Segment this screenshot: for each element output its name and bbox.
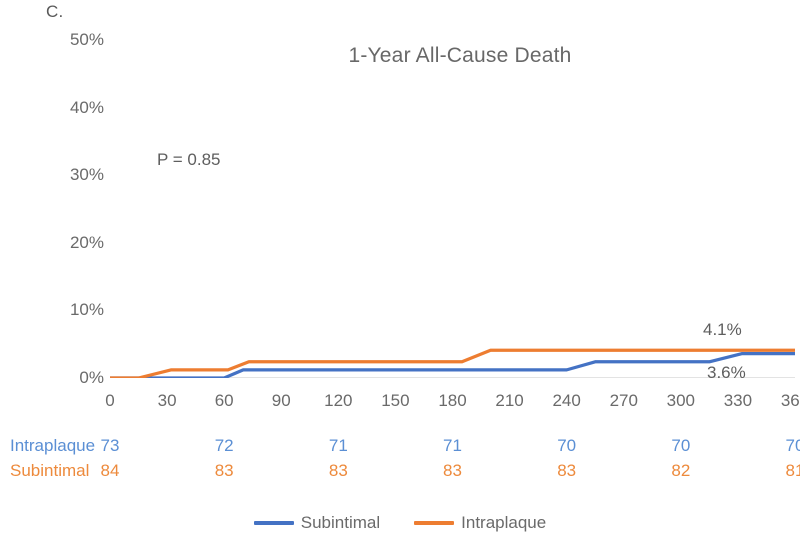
risk-table-cell: 82 xyxy=(658,461,704,481)
risk-table-cell: 84 xyxy=(87,461,133,481)
x-axis-tick-label: 240 xyxy=(544,391,590,411)
km-curves-svg xyxy=(110,40,795,378)
legend-item[interactable]: Subintimal xyxy=(254,513,380,533)
risk-table-cell: 72 xyxy=(201,436,247,456)
y-axis-tick-label: 40% xyxy=(44,99,104,116)
risk-table-row: Intraplaque73727171707070 xyxy=(0,436,800,458)
panel-label: C. xyxy=(46,2,63,22)
risk-table-cell: 70 xyxy=(544,436,590,456)
legend-line-swatch-icon xyxy=(414,521,454,525)
x-axis-tick-label: 210 xyxy=(487,391,533,411)
y-axis-tick-label: 0% xyxy=(44,369,104,386)
x-axis-tick-label: 360 xyxy=(772,391,800,411)
risk-table-cell: 83 xyxy=(315,461,361,481)
y-axis-tick-label: 20% xyxy=(44,234,104,251)
risk-table-row: Subintimal84838383838281 xyxy=(0,461,800,483)
km-curve-intraplaque xyxy=(110,350,795,378)
risk-table-cell: 73 xyxy=(87,436,133,456)
risk-table-cell: 71 xyxy=(430,436,476,456)
plot-area xyxy=(110,40,795,378)
x-axis-tick-label: 300 xyxy=(658,391,704,411)
y-axis-tick-label: 10% xyxy=(44,301,104,318)
risk-table-cell: 71 xyxy=(315,436,361,456)
legend-line-swatch-icon xyxy=(254,521,294,525)
chart-legend: SubintimalIntraplaque xyxy=(0,513,800,533)
endpoint-label-subintimal: 3.6% xyxy=(707,363,746,383)
x-axis-tick-label: 150 xyxy=(372,391,418,411)
x-axis-tick-label: 60 xyxy=(201,391,247,411)
legend-item-label: Intraplaque xyxy=(461,513,546,533)
y-axis-tick-label: 50% xyxy=(44,31,104,48)
x-axis-tick-label: 0 xyxy=(87,391,133,411)
x-axis-tick-label: 270 xyxy=(601,391,647,411)
risk-table-cell: 83 xyxy=(544,461,590,481)
x-axis-tick-label: 180 xyxy=(430,391,476,411)
x-axis-tick-label: 90 xyxy=(258,391,304,411)
x-axis-tick-label: 120 xyxy=(315,391,361,411)
figure-panel-c: C. 1-Year All-Cause Death P = 0.85 0%10%… xyxy=(0,0,800,549)
legend-item[interactable]: Intraplaque xyxy=(414,513,546,533)
y-axis-tick-label: 30% xyxy=(44,166,104,183)
risk-table-cell: 70 xyxy=(658,436,704,456)
risk-table-cell: 70 xyxy=(772,436,800,456)
x-axis-tick-label: 330 xyxy=(715,391,761,411)
endpoint-label-intraplaque: 4.1% xyxy=(703,320,742,340)
risk-table-cell: 81 xyxy=(772,461,800,481)
risk-table-cell: 83 xyxy=(430,461,476,481)
x-axis-tick-label: 30 xyxy=(144,391,190,411)
risk-table-cell: 83 xyxy=(201,461,247,481)
legend-item-label: Subintimal xyxy=(301,513,380,533)
km-curve-subintimal xyxy=(110,354,795,378)
